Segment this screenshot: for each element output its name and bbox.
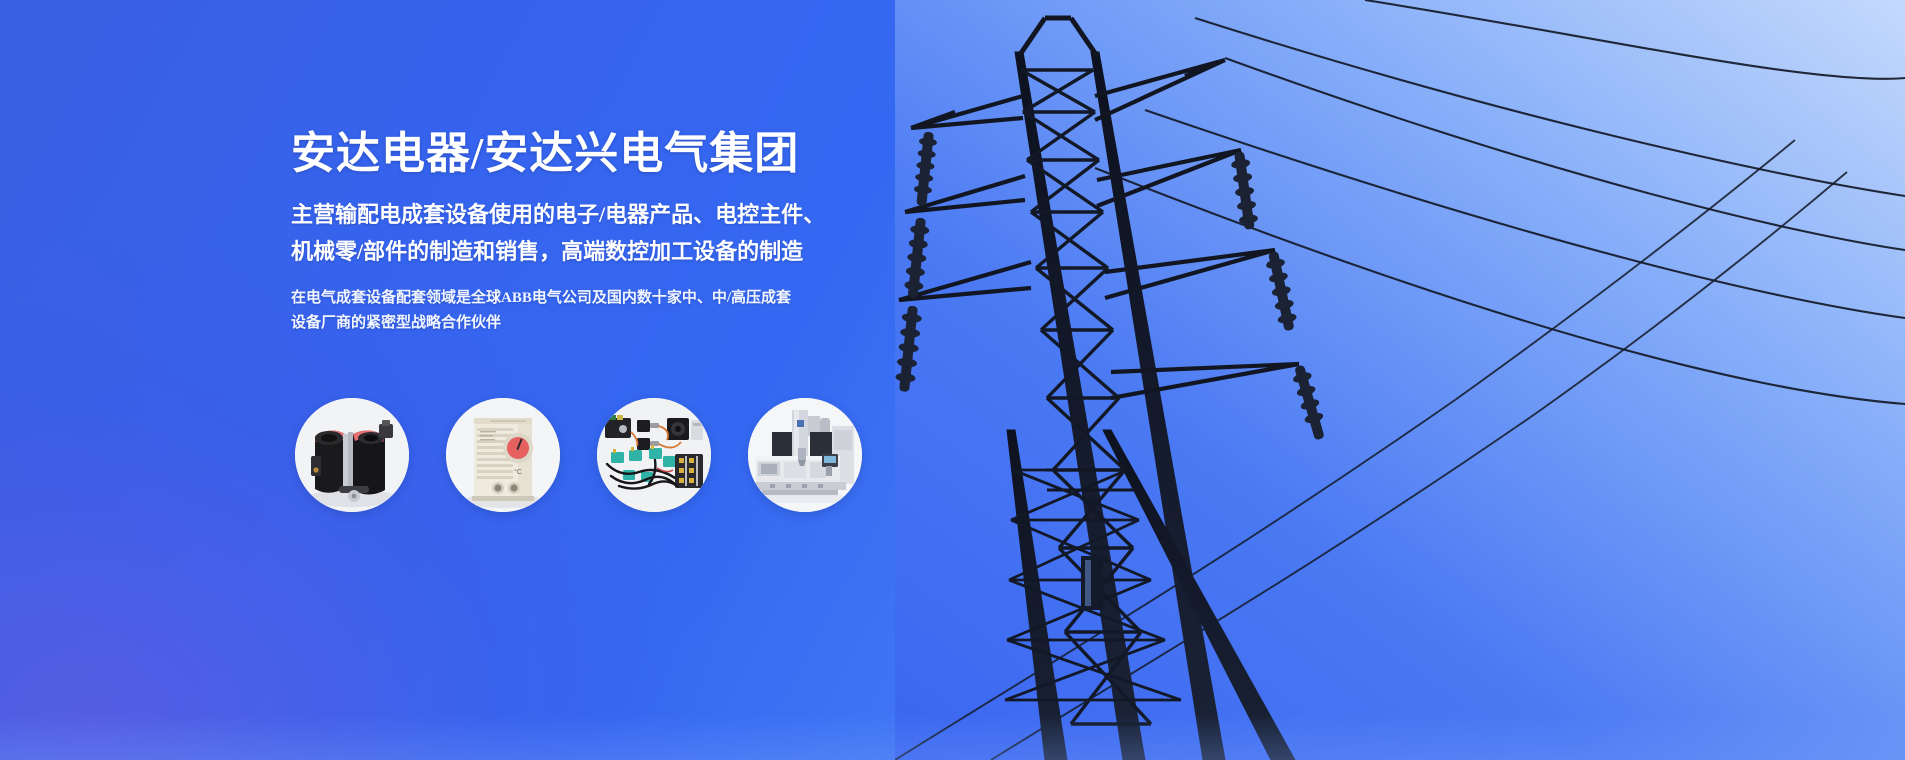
transmission-tower-scene: [895, 0, 1905, 760]
description-block: 在电气成套设备配套领域是全球ABB电气公司及国内数十家中、中/高压成套 设备厂商…: [291, 286, 931, 336]
description-line-1: 在电气成套设备配套领域是全球ABB电气公司及国内数十家中、中/高压成套: [291, 286, 931, 311]
subtitle-block: 主营输配电成套设备使用的电子/电器产品、电控主件、 机械零/部件的制造和销售，高…: [291, 196, 931, 270]
page-title: 安达电器/安达兴电气集团: [291, 126, 931, 182]
product-thumbnail-cabinet-thermostat[interactable]: °C: [446, 398, 560, 512]
svg-text:°C: °C: [514, 468, 522, 476]
subtitle-line-2: 机械零/部件的制造和销售，高端数控加工设备的制造: [291, 233, 931, 270]
hero-copy: 安达电器/安达兴电气集团 主营输配电成套设备使用的电子/电器产品、电控主件、 机…: [291, 126, 931, 336]
product-thumbnail-cnc-machining-center[interactable]: [748, 398, 862, 512]
product-thumbnail-row: °C: [295, 398, 862, 512]
product-thumbnail-electrical-components-kit[interactable]: [597, 398, 711, 512]
description-line-2: 设备厂商的紧密型战略合作伙伴: [291, 311, 931, 336]
product-thumbnail-split-current-transformer[interactable]: [295, 398, 409, 512]
subtitle-line-1: 主营输配电成套设备使用的电子/电器产品、电控主件、: [291, 196, 931, 233]
hero-banner: 安达电器/安达兴电气集团 主营输配电成套设备使用的电子/电器产品、电控主件、 机…: [0, 0, 1905, 760]
